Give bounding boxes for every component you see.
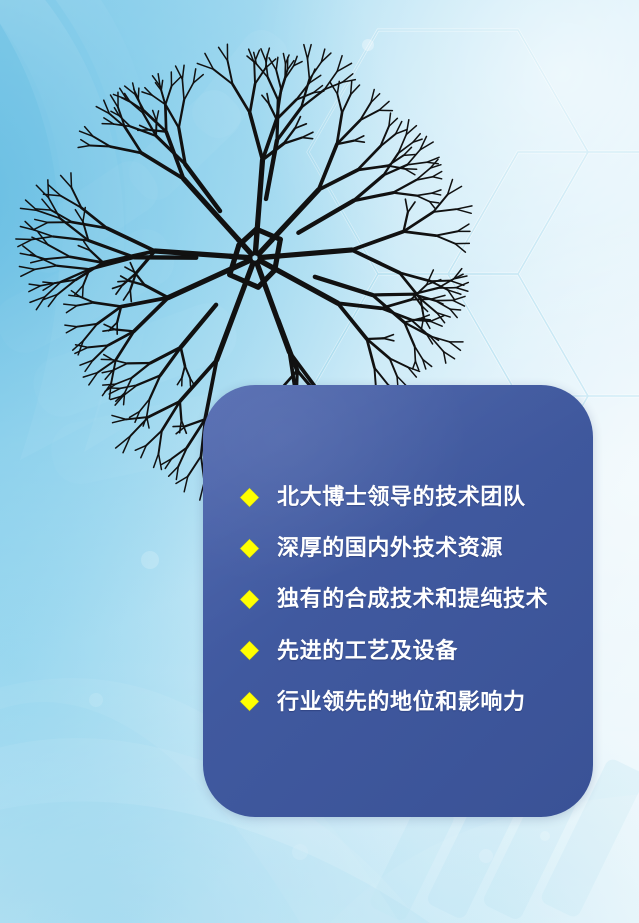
diamond-icon xyxy=(240,590,258,608)
list-item[interactable]: 独有的合成技术和提纯技术 xyxy=(243,587,575,611)
list-item[interactable]: 行业领先的地位和影响力 xyxy=(243,690,575,714)
list-item-label: 深厚的国内外技术资源 xyxy=(277,536,503,560)
diamond-icon xyxy=(240,641,258,659)
diamond-icon xyxy=(240,693,258,711)
bullet-list: 北大博士领导的技术团队 深厚的国内外技术资源 独有的合成技术和提纯技术 先进的工… xyxy=(243,485,575,714)
list-item-label: 先进的工艺及设备 xyxy=(277,639,458,663)
list-item[interactable]: 北大博士领导的技术团队 xyxy=(243,485,575,509)
list-item-label: 北大博士领导的技术团队 xyxy=(277,485,526,509)
list-item[interactable]: 深厚的国内外技术资源 xyxy=(243,536,575,560)
slide-canvas: 北大博士领导的技术团队 深厚的国内外技术资源 独有的合成技术和提纯技术 先进的工… xyxy=(0,0,639,923)
diamond-icon xyxy=(240,539,258,557)
list-item-label: 行业领先的地位和影响力 xyxy=(277,690,526,714)
list-item[interactable]: 先进的工艺及设备 xyxy=(243,639,575,663)
diamond-icon xyxy=(240,488,258,506)
list-item-label: 独有的合成技术和提纯技术 xyxy=(277,587,548,611)
info-panel: 北大博士领导的技术团队 深厚的国内外技术资源 独有的合成技术和提纯技术 先进的工… xyxy=(203,385,593,817)
